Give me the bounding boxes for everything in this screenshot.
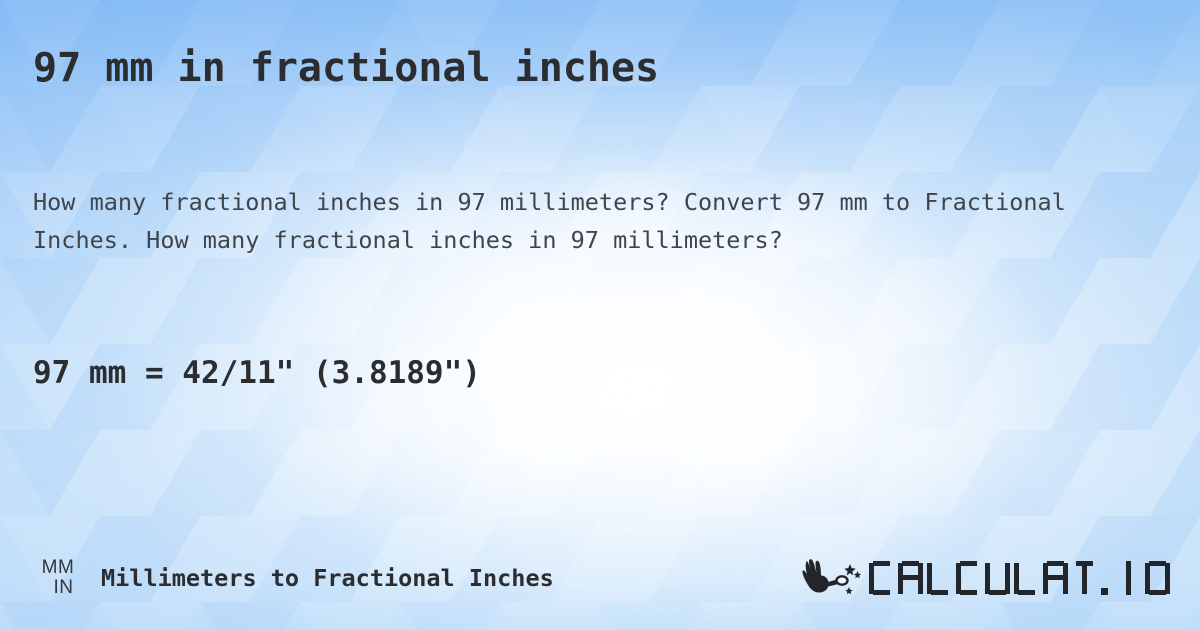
brand-letter-dot: [1101, 561, 1112, 595]
brand-letter-i: [1116, 561, 1141, 595]
page-title: 97 mm in fractional inches: [33, 45, 659, 91]
content-area: 97 mm in fractional inches How many frac…: [0, 0, 1200, 630]
conversion-result: 97 mm = 42/11" (3.8189"): [33, 355, 481, 391]
footer: MM IN Millimeters to Fractional Inches: [33, 548, 1174, 608]
brand-letter-t: [1072, 561, 1097, 595]
page-description: How many fractional inches in 97 millime…: [33, 183, 1173, 259]
brand-letter-a-2: [1043, 561, 1068, 595]
brand-letter-l-1: [927, 561, 952, 595]
brand-letter-o: [1145, 561, 1170, 595]
mm-to-in-icon-bottom-label: IN: [54, 578, 74, 598]
magic-wand-hand-icon: [801, 557, 861, 599]
converter-name: Millimeters to Fractional Inches: [101, 564, 554, 592]
mm-to-in-icon: MM IN: [33, 558, 85, 598]
brand-logo[interactable]: [801, 557, 1174, 599]
brand-letter-c-2: [956, 561, 981, 595]
footer-left-group: MM IN Millimeters to Fractional Inches: [33, 558, 554, 598]
brand-wordmark: [869, 561, 1174, 595]
brand-letter-c-1: [869, 561, 894, 595]
brand-letter-a-1: [898, 561, 923, 595]
brand-letter-u-1: [985, 561, 1010, 595]
mm-to-in-icon-top-label: MM: [42, 558, 75, 578]
brand-letter-l-2: [1014, 561, 1039, 595]
og-image-card: 97 mm in fractional inches How many frac…: [0, 0, 1200, 630]
